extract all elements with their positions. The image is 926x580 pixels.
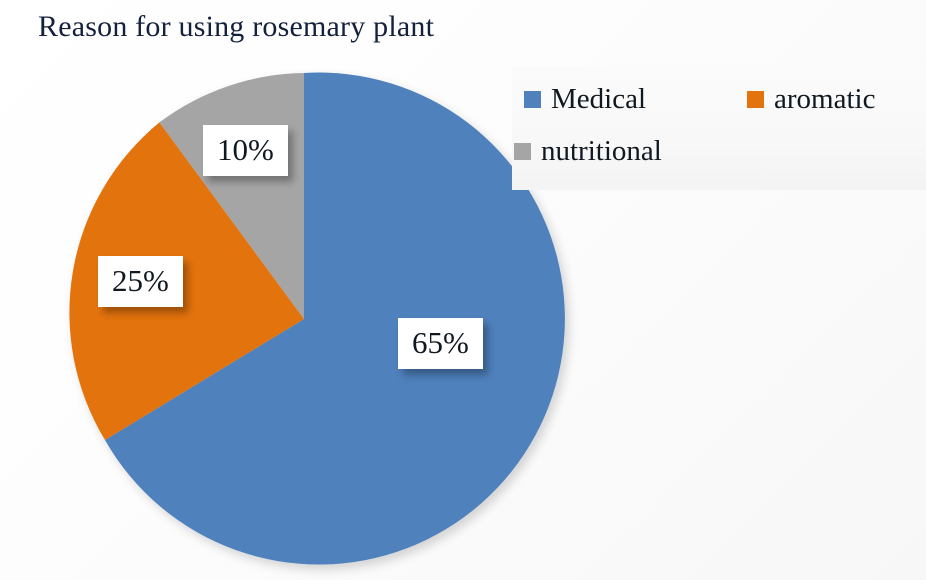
chart-legend: Medical aromatic nutritional xyxy=(512,66,926,190)
legend-swatch-nutritional-icon xyxy=(514,143,531,160)
data-label-nutritional: 10% xyxy=(203,125,288,176)
legend-label-aromatic: aromatic xyxy=(774,84,875,114)
legend-label-medical: Medical xyxy=(551,84,646,114)
pie-chart-figure: Reason for using rosemary plant 65% 25% … xyxy=(0,0,926,580)
data-label-medical: 65% xyxy=(398,318,483,369)
legend-label-nutritional: nutritional xyxy=(541,136,662,166)
data-label-aromatic: 25% xyxy=(98,256,183,307)
legend-swatch-aromatic-icon xyxy=(747,91,764,108)
legend-swatch-medical-icon xyxy=(524,91,541,108)
legend-row: Medical aromatic xyxy=(512,84,926,114)
legend-item-aromatic[interactable]: aromatic xyxy=(747,84,875,114)
legend-row: nutritional xyxy=(512,136,926,166)
legend-item-nutritional[interactable]: nutritional xyxy=(514,136,662,166)
legend-item-medical[interactable]: Medical xyxy=(524,84,646,114)
